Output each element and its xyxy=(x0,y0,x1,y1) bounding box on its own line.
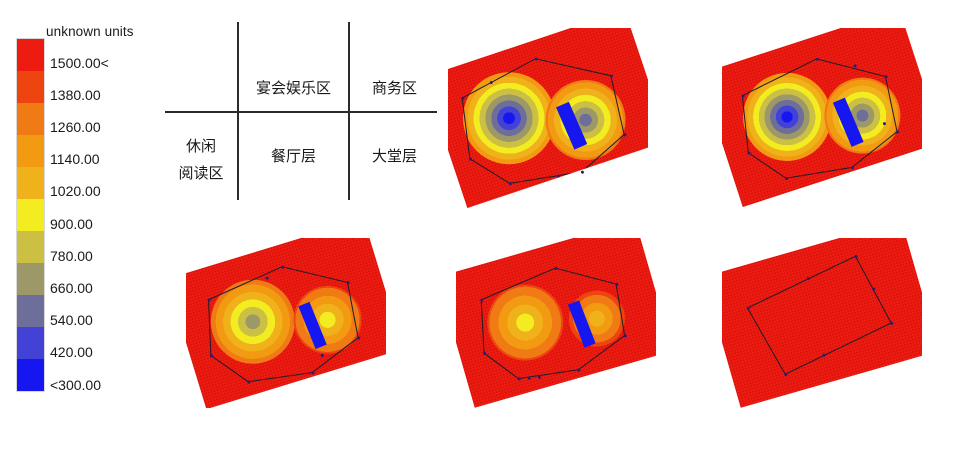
zone-label-table: 宴会娱乐区 商务区 休闲 阅读区 餐厅层 大堂层 xyxy=(165,22,437,200)
heatmap-panel-lobby xyxy=(722,238,922,408)
colorbar-labels: 1500.00<1380.001260.001140.001020.00900.… xyxy=(50,38,170,392)
colorbar-label-7: 660.00 xyxy=(50,281,93,295)
colorbar-swatch-6 xyxy=(17,231,44,263)
heatmap-panel-leisure xyxy=(186,238,386,408)
zone-boundary-polygon xyxy=(186,238,386,408)
heatmap-field xyxy=(722,28,922,208)
colorbar-label-10: <300.00 xyxy=(50,378,101,392)
colorbar-label-9: 420.00 xyxy=(50,345,93,359)
colorbar-swatch-8 xyxy=(17,295,44,327)
table-vline-1 xyxy=(237,22,239,200)
colorbar-swatch-0 xyxy=(17,39,44,71)
colorbar-swatch-3 xyxy=(17,135,44,167)
heatmap-panel-restaurant xyxy=(456,238,656,408)
heatmap-panel-banquet xyxy=(448,28,648,208)
table-cell-leisure-line2: 阅读区 xyxy=(165,162,237,185)
zone-boundary-polygon xyxy=(448,28,648,208)
colorbar-label-2: 1260.00 xyxy=(50,120,101,134)
heatmap-panel-business xyxy=(722,28,922,208)
legend-title: unknown units xyxy=(46,24,134,39)
colorbar-swatch-5 xyxy=(17,199,44,231)
colorbar-swatches xyxy=(16,38,45,392)
table-cell-business: 商务区 xyxy=(352,77,437,100)
colorbar-legend: unknown units 1500.00<1380.001260.001140… xyxy=(14,24,164,394)
colorbar-label-0: 1500.00< xyxy=(50,56,109,70)
colorbar-label-1: 1380.00 xyxy=(50,88,101,102)
screenshot-root: unknown units 1500.00<1380.001260.001140… xyxy=(0,0,960,454)
heatmap-domain-slab xyxy=(186,238,386,408)
heatmap-field xyxy=(722,238,922,408)
table-cell-banquet: 宴会娱乐区 xyxy=(241,77,346,100)
zone-vertex-marker xyxy=(580,170,584,174)
table-cell-lobby: 大堂层 xyxy=(352,145,437,168)
table-cell-leisure-line1: 休闲 xyxy=(165,135,237,158)
heatmap-domain-slab xyxy=(456,238,656,408)
colorbar-swatch-9 xyxy=(17,327,44,359)
zone-boundary-polygon xyxy=(722,28,922,207)
heatmap-field xyxy=(456,238,656,408)
heatmap-domain-slab xyxy=(448,28,648,208)
colorbar-swatch-4 xyxy=(17,167,44,199)
colorbar-label-3: 1140.00 xyxy=(50,152,100,166)
heatmap-field xyxy=(448,28,648,208)
colorbar-swatch-1 xyxy=(17,71,44,103)
table-vline-2 xyxy=(348,22,350,200)
colorbar-label-4: 1020.00 xyxy=(50,184,101,198)
colorbar-swatch-2 xyxy=(17,103,44,135)
colorbar-label-5: 900.00 xyxy=(50,217,93,231)
zone-boundary-polygon xyxy=(456,238,656,408)
colorbar-label-6: 780.00 xyxy=(50,249,93,263)
heatmap-domain-slab xyxy=(722,238,922,408)
table-hline xyxy=(165,111,437,113)
colorbar-swatch-10 xyxy=(17,359,44,391)
colorbar-label-8: 540.00 xyxy=(50,313,93,327)
colorbar-swatch-7 xyxy=(17,263,44,295)
heatmap-field xyxy=(186,238,386,408)
heatmap-domain-slab xyxy=(722,28,922,207)
table-cell-restaurant: 餐厅层 xyxy=(241,145,346,168)
